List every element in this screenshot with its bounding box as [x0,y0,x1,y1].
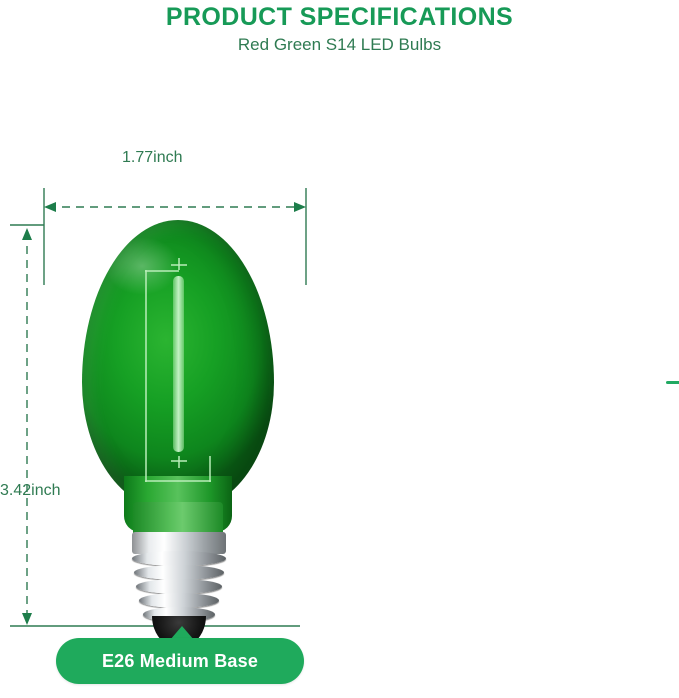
header: PRODUCT SPECIFICATIONS Red Green S14 LED… [0,0,679,56]
feature-label: Plastic [666,501,679,517]
filament-wire [178,258,180,270]
filament-wire [178,456,180,468]
filament-wire [145,270,147,482]
e26-base-callout: E26 Medium Base [56,638,304,684]
feature-row: Red Green 360° 360 Degree Beam Angle [666,537,679,652]
page-subtitle: Red Green S14 LED Bulbs [0,34,679,56]
feature-grid: Plastic [666,418,679,652]
feature-plastic: Plastic [666,418,679,517]
large-green-bulb-image [74,220,284,640]
base-thread [139,593,219,608]
feature-row: Plastic [666,418,679,517]
filament-wire [145,480,211,482]
section-divider [666,381,679,384]
right-panel: Red Green [330,60,679,638]
height-dimension-label: 3.42inch [0,482,61,500]
base-thread [132,551,226,566]
base-thread [136,579,222,594]
feature-label: Red Green [666,620,679,636]
filament-rod [173,276,184,452]
e26-base-label: E26 Medium Base [102,651,258,672]
dimension-drawing-panel: 1.77inch 3.42inch E26 Medium Base [0,60,330,638]
base-thread [134,565,224,580]
filament-wire [145,270,179,272]
row-spacer [666,517,679,537]
feature-red-green: Red Green [666,537,679,652]
filament-wire [209,456,211,482]
page-title: PRODUCT SPECIFICATIONS [0,2,679,32]
width-dimension-label: 1.77inch [122,149,183,167]
